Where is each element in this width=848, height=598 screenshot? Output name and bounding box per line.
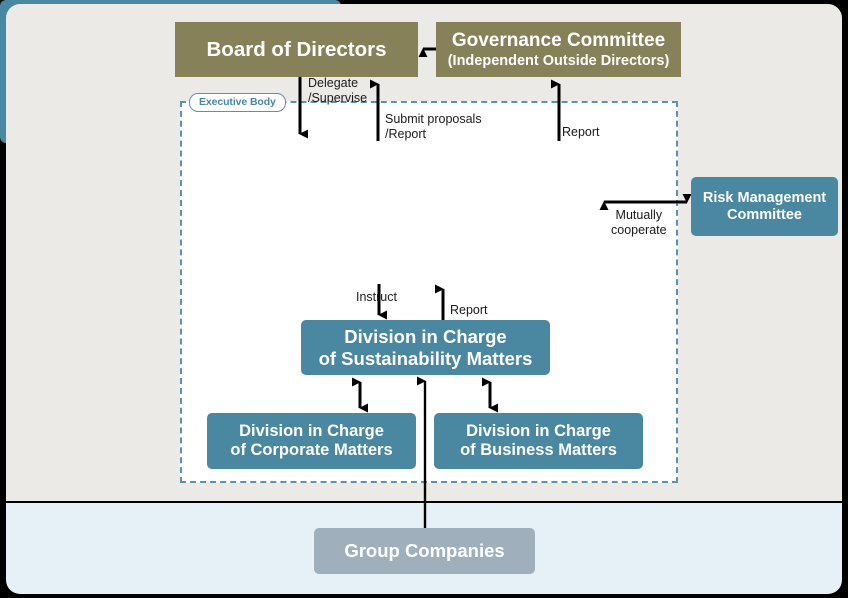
label-delegate-supervise: Delegate /Supervise [308,76,367,105]
node-governance-committee[interactable]: Governance Committee (Independent Outsid… [436,22,681,77]
executive-body-label: Executive Body [189,93,286,112]
node-division-corporate-matters[interactable]: Division in Charge of Corporate Matters [207,413,416,469]
division-corporate-line2: of Corporate Matters [230,441,392,460]
division-sustainability-line2: of Sustainability Matters [319,348,533,369]
label-mutually-cooperate-line1: Mutually [611,208,667,223]
label-mutually-cooperate-line2: cooperate [611,223,667,238]
risk-management-committee-line2: Committee [727,207,802,224]
risk-management-committee-line1: Risk Management [703,190,826,207]
diagram-canvas: Board of Directors Governance Committee … [0,0,848,598]
label-delegate-supervise-line1: Delegate [308,76,367,91]
governance-committee-sublabel: (Independent Outside Directors) [448,53,670,70]
division-corporate-line1: Division in Charge [239,422,384,441]
label-submit-proposals-line2: /Report [385,127,482,142]
division-sustainability-line1: Division in Charge [344,326,506,347]
label-report-to-governance: Report [562,125,600,140]
label-submit-proposals-report: Submit proposals /Report [385,112,482,141]
label-submit-proposals-line1: Submit proposals [385,112,482,127]
division-business-line2: of Business Matters [460,441,617,460]
node-division-sustainability-matters[interactable]: Division in Charge of Sustainability Mat… [301,320,550,375]
group-companies-label: Group Companies [344,540,504,561]
governance-committee-label: Governance Committee [452,30,665,52]
node-group-companies[interactable]: Group Companies [314,528,535,574]
board-of-directors-label: Board of Directors [207,38,387,62]
node-board-of-directors[interactable]: Board of Directors [175,22,418,77]
label-instruct: Instruct [356,290,397,305]
node-division-business-matters[interactable]: Division in Charge of Business Matters [434,413,643,469]
division-business-line1: Division in Charge [466,422,611,441]
node-risk-management-committee[interactable]: Risk Management Committee [691,177,838,236]
label-delegate-supervise-line2: /Supervise [308,91,367,106]
label-mutually-cooperate: Mutually cooperate [611,208,667,237]
label-report-to-committee: Report [450,303,488,318]
